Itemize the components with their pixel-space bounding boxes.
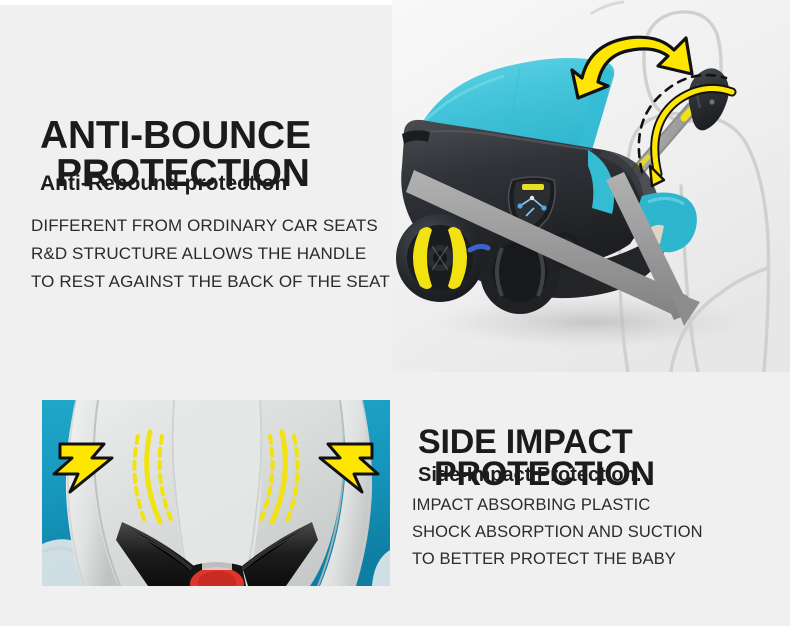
side-impact-body-text: IMPACT ABSORBING PLASTIC SHOCK ABSORPTIO… bbox=[412, 492, 703, 573]
stroller-wheel-front bbox=[396, 214, 484, 302]
side-impact-body-line-2: SHOCK ABSORPTION AND SUCTION bbox=[412, 519, 703, 546]
anti-bounce-body-text: DIFFERENT FROM ORDINARY CAR SEATS R&D ST… bbox=[31, 212, 390, 296]
side-impact-subheadline: Side-Impact Protection. bbox=[418, 464, 641, 487]
anti-bounce-body-line-2: R&D STRUCTURE ALLOWS THE HANDLE bbox=[31, 240, 390, 268]
anti-rebound-subheadline: Anti-Rebound protection bbox=[40, 172, 287, 196]
harness-buckle bbox=[188, 562, 246, 586]
side-impact-body-line-3: TO BETTER PROTECT THE BABY bbox=[412, 546, 703, 573]
anti-bounce-body-line-3: TO REST AGAINST THE BACK OF THE SEAT bbox=[31, 268, 390, 296]
anti-bounce-headline: ANTI-BOUNCE PROTECTION bbox=[40, 80, 311, 230]
anti-bounce-headline-line1: ANTI-BOUNCE bbox=[40, 114, 311, 157]
car-seat-interior-photo bbox=[42, 400, 390, 586]
product-feature-infographic: ANTI-BOUNCE PROTECTION Anti-Rebound prot… bbox=[0, 0, 790, 626]
side-impact-body-line-1: IMPACT ABSORBING PLASTIC bbox=[412, 492, 703, 519]
anti-bounce-body-line-1: DIFFERENT FROM ORDINARY CAR SEATS bbox=[31, 212, 390, 240]
infant-car-seat-stroller-photo bbox=[392, 0, 790, 372]
